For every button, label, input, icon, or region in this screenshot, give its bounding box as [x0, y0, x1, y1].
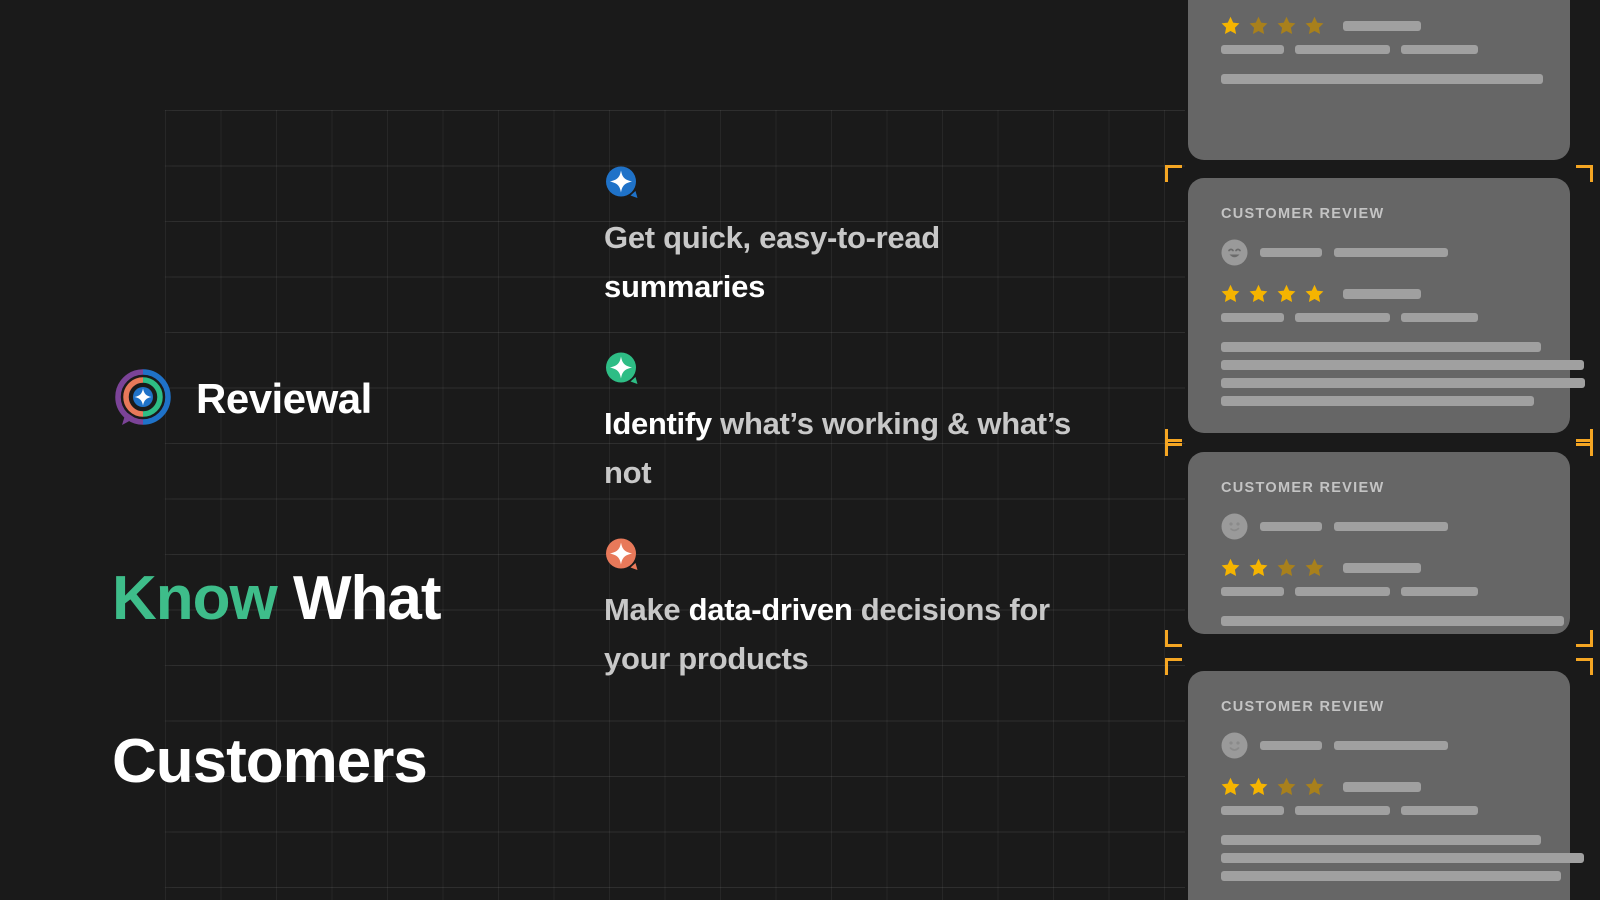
feature-lead-1: Get quick, easy-to-read [604, 220, 940, 255]
review-user-row [1221, 239, 1537, 266]
focus-corner-c-tr [1576, 658, 1593, 675]
review-body-lines [1221, 835, 1537, 881]
headline-word-what: What [277, 564, 441, 633]
review-body-line-placeholder [1221, 342, 1541, 352]
review-body-line-placeholder [1221, 616, 1564, 626]
review-tag-placeholder [1221, 313, 1284, 322]
review-user-row [1221, 732, 1537, 759]
brand-row: Reviewal [112, 368, 441, 430]
review-rating-stars [1221, 16, 1537, 35]
star-filled-icon [1277, 284, 1296, 303]
review-card[interactable]: CUSTOMER REVIEW [1188, 671, 1570, 900]
star-dim-icon [1277, 16, 1296, 35]
feature-lead-3: Make [604, 592, 689, 627]
headline-word-love: Love [112, 889, 253, 900]
review-tag-placeholder [1295, 587, 1390, 596]
review-card-title: CUSTOMER REVIEW [1221, 206, 1537, 222]
focus-corner-c-br [1576, 429, 1593, 446]
star-dim-icon [1305, 558, 1324, 577]
review-card-title: CUSTOMER REVIEW [1221, 480, 1537, 496]
focus-corner-c-tl [1165, 439, 1182, 456]
review-tag-placeholder [1295, 313, 1390, 322]
review-body-lines [1221, 616, 1537, 626]
feature-item-1: Get quick, easy-to-read summaries [604, 165, 1074, 312]
star-filled-icon [1305, 284, 1324, 303]
feature-list: Get quick, easy-to-read summariesIdentif… [604, 165, 1074, 684]
headline-word-customers: Customers [112, 727, 427, 796]
reviewal-logo-icon [112, 368, 174, 430]
review-card[interactable]: CUSTOMER REVIEW [1188, 178, 1570, 433]
review-author-placeholder [1260, 741, 1322, 750]
page-headline: Know What Customers Love [112, 477, 441, 900]
focus-corner-c-bl [1165, 630, 1182, 647]
review-tag-row [1221, 45, 1537, 54]
review-tag-placeholder [1401, 45, 1478, 54]
sparkle-bubble-icon [604, 165, 641, 202]
review-body-line-placeholder [1221, 835, 1541, 845]
review-tag-row [1221, 313, 1537, 322]
star-dim-icon [1277, 558, 1296, 577]
star-dim-icon [1305, 777, 1324, 796]
star-filled-icon [1221, 284, 1240, 303]
star-dim-icon [1249, 16, 1268, 35]
feature-text-2: Identify what’s working & what’s not [604, 400, 1074, 498]
review-body-lines [1221, 342, 1537, 406]
review-body-line-placeholder [1221, 871, 1561, 881]
review-meta-placeholder [1334, 522, 1448, 531]
review-rating-label-placeholder [1343, 21, 1421, 31]
review-rating-label-placeholder [1343, 782, 1421, 792]
feature-emphasis-3: data-driven [689, 592, 853, 627]
review-card-title: CUSTOMER REVIEW [1221, 699, 1537, 715]
review-card[interactable]: CUSTOMER REVIEW [1188, 452, 1570, 634]
feature-item-3: Make data-driven decisions for your prod… [604, 537, 1074, 684]
review-tag-placeholder [1221, 587, 1284, 596]
review-user-row [1221, 513, 1537, 540]
review-tag-row [1221, 587, 1537, 596]
feature-text-1: Get quick, easy-to-read summaries [604, 214, 1074, 312]
review-body-line-placeholder [1221, 74, 1543, 84]
brand-block: Reviewal Know What Customers Love [112, 368, 441, 900]
sparkle-bubble-icon [604, 537, 641, 574]
review-tag-row [1221, 806, 1537, 815]
feature-text-3: Make data-driven decisions for your prod… [604, 586, 1074, 684]
star-filled-icon [1221, 16, 1240, 35]
review-tag-placeholder [1295, 45, 1390, 54]
review-rating-stars [1221, 558, 1537, 577]
headline-word-know: Know [112, 564, 277, 633]
happy-face-icon [1221, 239, 1248, 266]
smile-face-icon [1221, 732, 1248, 759]
review-rating-stars [1221, 284, 1537, 303]
star-filled-icon [1249, 777, 1268, 796]
focus-corner-c-tr [1576, 165, 1593, 182]
review-meta-placeholder [1334, 248, 1448, 257]
brand-name: Reviewal [196, 378, 372, 420]
review-tag-placeholder [1221, 45, 1284, 54]
review-tag-placeholder [1221, 806, 1284, 815]
neutral-smile-face-icon [1221, 513, 1248, 540]
review-tag-placeholder [1401, 806, 1478, 815]
review-author-placeholder [1260, 248, 1322, 257]
star-filled-icon [1221, 777, 1240, 796]
star-filled-icon [1249, 558, 1268, 577]
review-body-line-placeholder [1221, 360, 1584, 370]
focus-corner-c-br [1576, 630, 1593, 647]
focus-corner-c-tr [1576, 439, 1593, 456]
focus-corner-c-bl [1165, 429, 1182, 446]
sparkle-bubble-icon [604, 351, 641, 388]
review-body-line-placeholder [1221, 396, 1534, 406]
star-dim-icon [1305, 16, 1324, 35]
review-tag-placeholder [1401, 313, 1478, 322]
review-body-lines [1221, 74, 1537, 84]
review-tag-placeholder [1401, 587, 1478, 596]
feature-emphasis-1: summaries [604, 269, 765, 304]
review-meta-placeholder [1334, 741, 1448, 750]
review-rating-label-placeholder [1343, 563, 1421, 573]
review-card[interactable]: CUSTOMER REVIEW [1188, 0, 1570, 160]
review-card-column: CUSTOMER REVIEWCUSTOMER REVIEWCUSTOMER R… [1165, 0, 1600, 900]
review-rating-label-placeholder [1343, 289, 1421, 299]
star-dim-icon [1277, 777, 1296, 796]
feature-item-2: Identify what’s working & what’s not [604, 351, 1074, 498]
focus-corner-c-tl [1165, 165, 1182, 182]
review-body-line-placeholder [1221, 853, 1584, 863]
feature-emphasis-2: Identify [604, 406, 712, 441]
review-author-placeholder [1260, 522, 1322, 531]
review-tag-placeholder [1295, 806, 1390, 815]
focus-corner-c-tl [1165, 658, 1182, 675]
star-filled-icon [1221, 558, 1240, 577]
star-filled-icon [1249, 284, 1268, 303]
review-body-line-placeholder [1221, 378, 1585, 388]
review-rating-stars [1221, 777, 1537, 796]
